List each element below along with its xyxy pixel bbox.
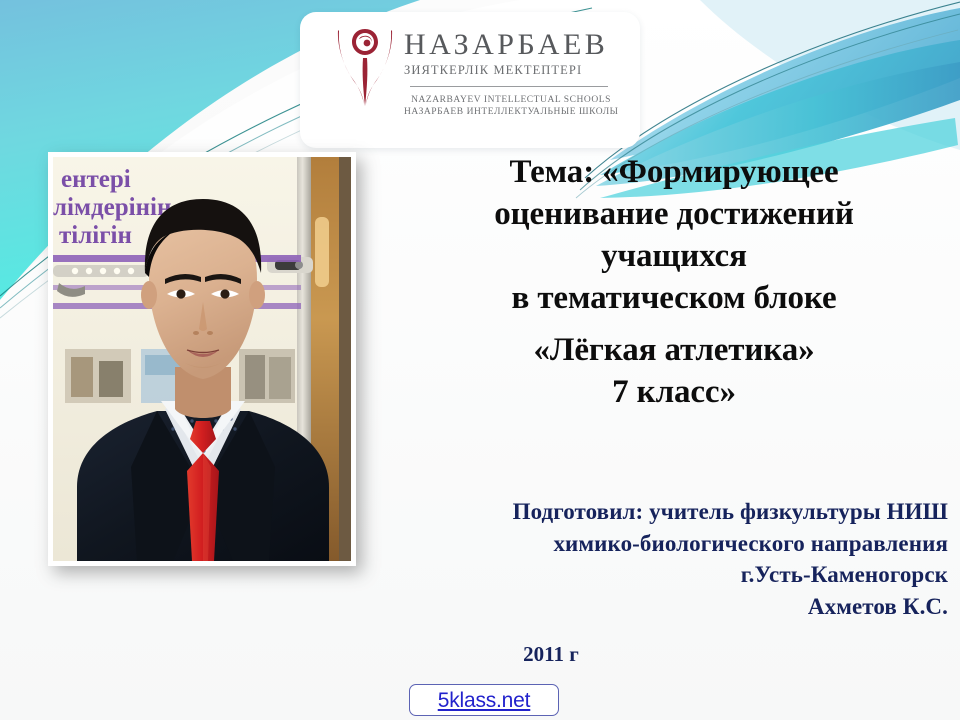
title-line-2: оценивание достижений [400,194,948,236]
author-line-4: Ахметов К.С. [386,591,948,623]
logo-russian-line: НАЗАРБАЕВ ИНТЕЛЛЕКТУАЛЬНЫЕ ШКОЛЫ [404,106,618,119]
presenter-photo: ентері лімдерінің тілігін [53,157,351,561]
title-line-5: «Лёгкая атлетика» [400,330,948,372]
author-line-3: г.Усть-Каменогорск [386,559,948,591]
svg-text:ентері: ентері [61,166,131,193]
slide-title: Тема: «Формирующее оценивание достижений… [400,152,948,413]
logo-divider [410,86,608,87]
title-line-4: в тематическом блоке [400,278,948,320]
nazarbayev-logo-card: НАЗАРБАЕВ ЗИЯТКЕРЛІК МЕКТЕПТЕРІ NAZARBAY… [300,12,640,148]
title-line-6: 7 класс» [400,372,948,414]
svg-text:тілігін: тілігін [59,222,132,249]
author-year: 2011 г [386,642,716,667]
title-line-1: Тема: «Формирующее [400,152,948,194]
author-credits: Подготовил: учитель физкультуры НИШ хими… [386,496,948,622]
presentation-slide: НАЗАРБАЕВ ЗИЯТКЕРЛІК МЕКТЕПТЕРІ NAZARBAY… [0,0,960,720]
logo-subtitle: ЗИЯТКЕРЛІК МЕКТЕПТЕРІ [404,64,628,77]
presenter-photo-frame: ентері лімдерінің тілігін [48,152,356,566]
title-line-3: учащихся [400,236,948,278]
watermark-link[interactable]: 5klass.net [438,690,531,711]
author-line-2: химико-биологического направления [386,528,948,560]
watermark-badge[interactable]: 5klass.net [409,684,559,716]
svg-text:лімдерінің: лімдерінің [53,194,171,221]
logo-name: НАЗАРБАЕВ [404,30,628,60]
logo-english-line: NAZARBAYEV INTELLECTUAL SCHOOLS [404,94,618,107]
author-line-1: Подготовил: учитель физкультуры НИШ [386,496,948,528]
nazarbayev-logo-mark-icon [334,24,396,108]
